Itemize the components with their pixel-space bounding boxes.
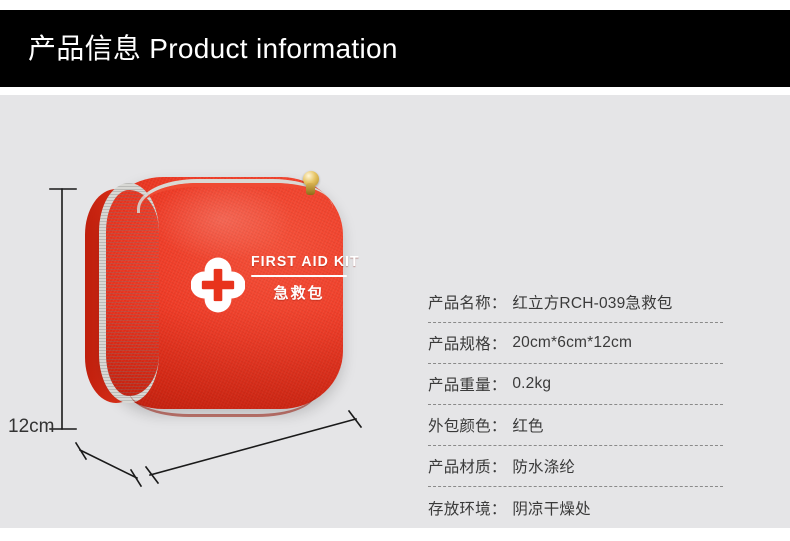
- bag-brand-text: FIRST AID KIT 急救包: [251, 255, 351, 303]
- page-title: 产品信息 Product information: [28, 35, 398, 63]
- spec-label: 产品规格: [428, 332, 491, 354]
- first-aid-kit-image: FIRST AID KIT 急救包: [85, 177, 343, 417]
- bag-brand-line-chinese: 急救包: [251, 282, 347, 303]
- spec-colon: ：: [491, 497, 513, 519]
- spec-colon: ：: [491, 373, 513, 395]
- spec-value: 红色: [512, 414, 543, 436]
- spec-value: 防水涤纶: [512, 455, 575, 477]
- product-image-stage: FIRST AID KIT 急救包: [0, 95, 420, 528]
- bag-branding: FIRST AID KIT 急救包: [191, 255, 331, 329]
- dimension-label-height: 12cm: [8, 417, 54, 436]
- table-row: 存放环境 ： 阴凉干燥处: [428, 487, 723, 528]
- table-row: 产品名称 ： 红立方RCH-039急救包: [428, 282, 723, 323]
- zipper-track: [99, 183, 159, 403]
- table-row: 产品重量 ： 0.2kg: [428, 364, 723, 405]
- table-row: 外包颜色 ： 红色: [428, 405, 723, 446]
- spec-colon: ：: [491, 332, 513, 354]
- bag-brand-divider: [251, 275, 347, 278]
- spec-value: 0.2kg: [512, 375, 551, 393]
- product-information-page: 产品信息 Product information: [0, 0, 790, 541]
- spec-label: 存放环境: [428, 497, 491, 519]
- page-header-bar: 产品信息 Product information: [0, 10, 790, 87]
- spec-value: 红立方RCH-039急救包: [512, 291, 672, 313]
- spec-value: 20cm*6cm*12cm: [512, 334, 632, 352]
- spec-colon: ：: [491, 455, 513, 477]
- spec-label: 产品名称: [428, 291, 491, 313]
- spec-label: 产品重量: [428, 373, 491, 395]
- spec-colon: ：: [491, 291, 513, 313]
- table-row: 产品规格 ： 20cm*6cm*12cm: [428, 323, 723, 364]
- bag-brand-line-english: FIRST AID KIT: [251, 255, 348, 271]
- spec-colon: ：: [491, 414, 513, 436]
- spec-label: 产品材质: [428, 455, 491, 477]
- content-panel: FIRST AID KIT 急救包: [0, 95, 790, 528]
- spec-label: 外包颜色: [428, 414, 491, 436]
- medical-cross-icon: [191, 257, 245, 313]
- spec-value: 阴凉干燥处: [512, 497, 591, 519]
- zipper-pull-tab: [306, 183, 315, 195]
- product-spec-table: 产品名称 ： 红立方RCH-039急救包 产品规格 ： 20cm*6cm*12c…: [428, 282, 723, 528]
- table-row: 产品材质 ： 防水涤纶: [428, 446, 723, 487]
